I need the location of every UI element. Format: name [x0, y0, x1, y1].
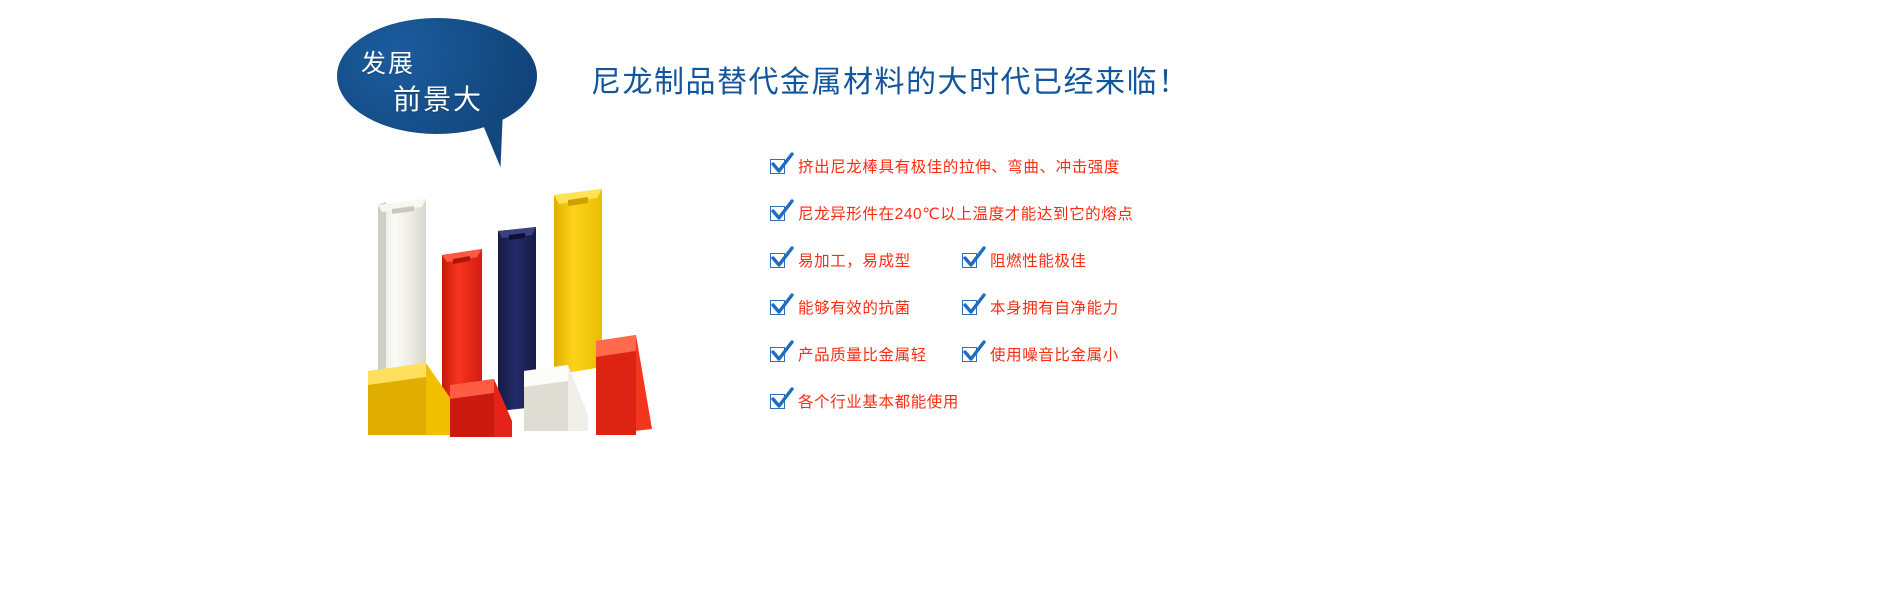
feature-item: 各个行业基本都能使用	[770, 390, 959, 412]
feature-text: 易加工，易成型	[798, 249, 911, 271]
checkbox-checked-icon	[962, 300, 977, 315]
checkbox-checked-icon	[770, 253, 785, 268]
checkbox-checked-icon	[770, 159, 785, 174]
speech-bubble-line-2: 前景大	[393, 78, 483, 118]
feature-item: 本身拥有自净能力	[962, 296, 1119, 318]
feature-row: 挤出尼龙棒具有极佳的拉伸、弯曲、冲击强度	[770, 155, 1470, 202]
promo-banner: 发展 前景大 尼龙制品替代金属材料的大时代已经来临！	[0, 0, 1902, 592]
checkbox-checked-icon	[770, 300, 785, 315]
feature-row: 尼龙异形件在240℃以上温度才能达到它的熔点	[770, 202, 1470, 249]
profile-red-l-2	[596, 335, 652, 435]
feature-item: 尼龙异形件在240℃以上温度才能达到它的熔点	[770, 202, 1133, 224]
feature-row: 能够有效的抗菌 本身拥有自净能力	[770, 296, 1470, 343]
feature-item: 能够有效的抗菌	[770, 296, 911, 318]
feature-text: 阻燃性能极佳	[990, 249, 1087, 271]
feature-item: 挤出尼龙棒具有极佳的拉伸、弯曲、冲击强度	[770, 155, 1120, 177]
feature-text: 各个行业基本都能使用	[798, 390, 959, 412]
profile-yellow-u	[554, 189, 602, 375]
feature-row: 产品质量比金属轻 使用噪音比金属小	[770, 343, 1470, 390]
speech-bubble: 发展 前景大	[337, 18, 547, 163]
feature-text: 本身拥有自净能力	[990, 296, 1119, 318]
feature-text: 产品质量比金属轻	[798, 343, 927, 365]
profile-white-l	[524, 365, 588, 431]
feature-item: 易加工，易成型	[770, 249, 911, 271]
feature-row: 易加工，易成型 阻燃性能极佳	[770, 249, 1470, 296]
feature-text: 尼龙异形件在240℃以上温度才能达到它的熔点	[798, 202, 1133, 224]
feature-list: 挤出尼龙棒具有极佳的拉伸、弯曲、冲击强度 尼龙异形件在240℃以上温度才能达到它…	[770, 155, 1470, 437]
product-photo	[352, 185, 702, 460]
checkbox-checked-icon	[962, 347, 977, 362]
checkbox-checked-icon	[770, 347, 785, 362]
speech-bubble-line-1: 发展	[361, 44, 415, 80]
feature-item: 阻燃性能极佳	[962, 249, 1087, 271]
checkbox-checked-icon	[962, 253, 977, 268]
feature-row: 各个行业基本都能使用	[770, 390, 1470, 437]
page-title: 尼龙制品替代金属材料的大时代已经来临！	[591, 57, 1190, 101]
feature-text: 挤出尼龙棒具有极佳的拉伸、弯曲、冲击强度	[798, 155, 1120, 177]
checkbox-checked-icon	[770, 206, 785, 221]
nylon-profiles-illustration	[352, 185, 702, 460]
feature-text: 使用噪音比金属小	[990, 343, 1119, 365]
feature-item: 使用噪音比金属小	[962, 343, 1119, 365]
feature-item: 产品质量比金属轻	[770, 343, 927, 365]
checkbox-checked-icon	[770, 394, 785, 409]
feature-text: 能够有效的抗菌	[798, 296, 911, 318]
